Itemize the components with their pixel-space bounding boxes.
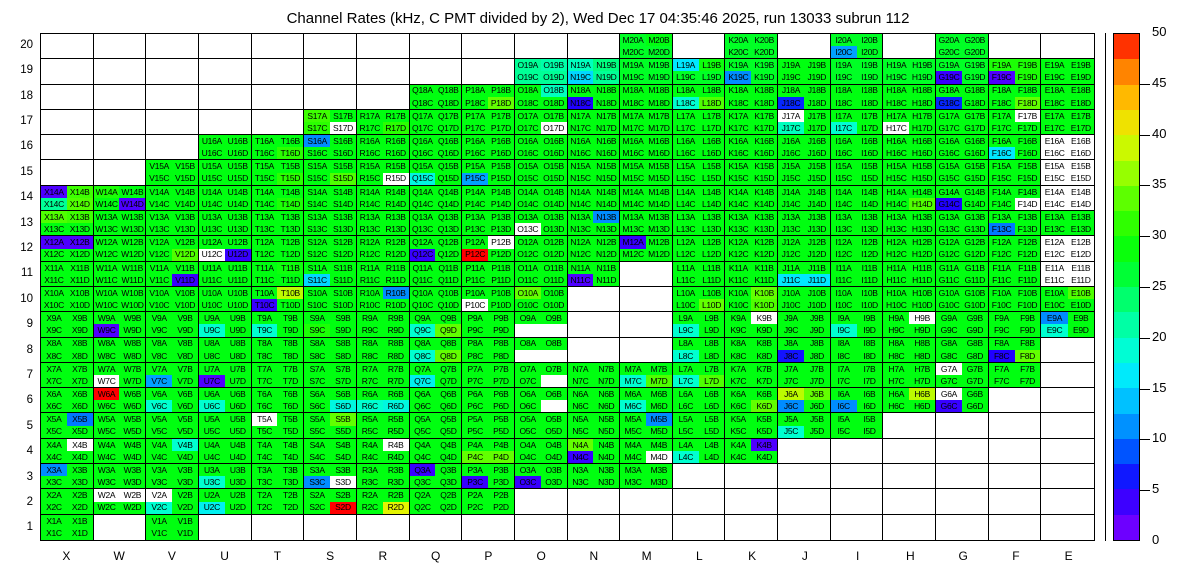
channel-cell: T10C [252,299,278,311]
module-cell: W5AW5BW5CW5D [94,413,147,438]
channel-cell: F9B [1015,312,1041,324]
module-cell: P9AP9BP9CP9D [462,312,515,337]
module-cell: T7AT7BT7CT7D [252,363,305,388]
module-cell: U7AU7BU7CU7D [199,363,252,388]
module-cell [146,135,199,160]
module-cell: G10AG10BG10CG10D [936,287,989,312]
channel-cell: K10D [751,299,777,311]
channel-cell: F15C [989,173,1015,185]
channel-cell: G17C [936,122,962,134]
channel-cell: E12A [1041,236,1067,248]
module-cell: O3AO3BO3CO3D [515,464,568,489]
channel-cell: L10C [673,299,699,311]
channel-cell: O9A [515,312,541,324]
module-cell: J9AJ9BJ9CJ9D [778,312,831,337]
channel-cell: S16A [304,135,330,147]
channel-cell-empty [673,46,699,58]
module-cell: E13AE13BE13CE13D [1041,211,1094,236]
channel-cell-empty [909,464,935,476]
channel-cell: P7D [488,375,514,387]
module-cell: V5AV5BV5CV5D [146,413,199,438]
channel-cell: O18C [515,97,541,109]
module-cell: L11AL11BL11CL11D [673,262,726,287]
module-cell: X14AX14BX14CX14D [41,186,94,211]
module-cell: U10AU10BU10CU10D [199,287,252,312]
channel-cell-empty [488,59,514,71]
channel-cell: O17D [541,122,567,134]
module-cell: O14AO14BO14CO14D [515,186,568,211]
x-axis-tick-label: S [304,549,357,563]
module-cell [883,489,936,514]
channel-cell: M3B [646,464,672,476]
channel-cell-empty [1068,439,1094,451]
module-cell: P3AP3BP3CP3D [462,464,515,489]
channel-cell-empty [989,464,1015,476]
channel-cell-empty [751,527,777,540]
channel-cell: G10B [962,287,988,299]
channel-cell: R14D [383,198,409,210]
channel-cell: F10C [989,299,1015,311]
channel-cell: X10A [41,287,67,299]
channel-cell: I11C [831,274,857,286]
module-cell [199,59,252,84]
channel-cell-empty [857,476,883,488]
channel-cell: Q10C [410,299,436,311]
channel-cell: K14A [725,186,751,198]
channel-cell: J11B [804,262,830,274]
channel-cell: V13D [172,223,198,235]
channel-cell-empty [330,85,356,97]
channel-cell: U14C [199,198,225,210]
channel-cell-empty [330,46,356,58]
channel-cell: P13C [462,223,488,235]
channel-cell: U5D [225,426,251,438]
channel-cell-empty [778,489,804,501]
module-cell: N4AN4BN4CN4D [568,439,621,464]
channel-cell: P8D [488,350,514,362]
channel-cell-empty [883,439,909,451]
module-cell: J13AJ13BJ13CJ13D [778,211,831,236]
channel-cell: K12C [725,249,751,261]
module-cell: K8AK8BK8CK8D [725,338,778,363]
channel-cell: L15D [699,173,725,185]
module-cell [989,464,1042,489]
channel-cell: N15A [568,160,594,172]
channel-cell: W9B [119,312,145,324]
channel-cell: R12C [357,249,383,261]
channel-cell: R15C [357,173,383,185]
channel-cell-empty [593,502,619,514]
module-cell: Q13AQ13BQ13CQ13D [410,211,463,236]
channel-cell-empty [252,85,278,97]
channel-cell: J5D [804,426,830,438]
module-cell: I15AI15BI15CI15D [831,160,884,185]
channel-cell-empty [515,527,541,540]
colorbar-segment [1114,236,1139,261]
channel-cell: I18D [857,97,883,109]
channel-cell: G15B [962,160,988,172]
module-cell: I19AI19BI19CI19D [831,59,884,84]
channel-cell: M18D [646,97,672,109]
channel-cell: S14A [304,186,330,198]
channel-cell: W2A [94,489,120,501]
channel-cell: P16A [462,135,488,147]
module-cell: V7AV7BV7CV7D [146,363,199,388]
channel-cell: O15A [515,160,541,172]
channel-cell: O14A [515,186,541,198]
channel-cell-empty [330,71,356,83]
channel-cell: O7C [515,375,541,387]
channel-cell: J5B [804,413,830,425]
channel-cell: Q5C [410,426,436,438]
channel-cell: J9D [804,324,830,336]
channel-cell: M12B [646,236,672,248]
channel-cell: G7B [962,363,988,375]
channel-cell: T16C [252,147,278,159]
module-cell: F16AF16BF16CF16D [989,135,1042,160]
channel-cell: X2D [67,502,93,514]
channel-cell: Q18C [410,97,436,109]
channel-cell-empty [488,71,514,83]
channel-cell: T8A [252,338,278,350]
channel-cell: V11C [146,274,172,286]
channel-cell-empty [357,34,383,46]
channel-cell: M5D [646,426,672,438]
channel-cell: L12D [699,249,725,261]
channel-cell: E10B [1068,287,1094,299]
channel-cell: W7B [119,363,145,375]
channel-cell-empty [41,85,67,97]
channel-cell: X7C [41,375,67,387]
channel-cell: E13D [1068,223,1094,235]
module-cell [620,287,673,312]
channel-cell: L7D [699,375,725,387]
channel-cell: N14B [593,186,619,198]
channel-cell: S13D [330,223,356,235]
channel-cell: F13B [1015,211,1041,223]
channel-cell-empty [119,46,145,58]
channel-cell: Q13B [435,211,461,223]
channel-cell-empty [252,515,278,528]
module-cell: G8AG8BG8CG8D [936,338,989,363]
module-cell: X6AX6BX6CX6D [41,388,94,413]
channel-cell: P9C [462,324,488,336]
channel-cell: L9D [699,324,725,336]
channel-cell: N12C [568,249,594,261]
channel-cell: S11B [330,262,356,274]
channel-cell: S3B [330,464,356,476]
channel-cell: G9D [962,324,988,336]
channel-cell: I15C [831,173,857,185]
channel-cell: X14B [67,186,93,198]
channel-cell: V8A [146,338,172,350]
colorbar-segment [1114,439,1139,464]
channel-cell: G14C [936,198,962,210]
channel-cell: M5C [620,426,646,438]
module-cell: K7AK7BK7CK7D [725,363,778,388]
channel-cell: R7C [357,375,383,387]
channel-cell: S12B [330,236,356,248]
channel-cell-empty [989,426,1015,438]
module-cell [1041,515,1094,540]
channel-cell: L18B [699,85,725,97]
channel-cell: P9A [462,312,488,324]
module-cell [778,34,831,59]
module-cell: T14AT14BT14CT14D [252,186,305,211]
channel-cell: H16A [883,135,909,147]
channel-cell: R17B [383,110,409,122]
channel-cell-empty [383,34,409,46]
channel-cell: T9A [252,312,278,324]
module-cell [831,489,884,514]
channel-cell: O12D [541,249,567,261]
channel-cell: E16A [1041,135,1067,147]
channel-cell: L12B [699,236,725,248]
channel-cell: J13A [778,211,804,223]
y-axis-tick-label: 14 [0,191,33,203]
channel-cell: E19C [1041,71,1067,83]
module-cell: G9AG9BG9CG9D [936,312,989,337]
channel-cell-empty [67,173,93,185]
channel-cell: H17C [883,122,909,134]
channel-cell: T5C [252,426,278,438]
channel-cell-empty [989,34,1015,46]
module-cell: E18AE18BE18CE18D [1041,85,1094,110]
channel-cell: J5C [778,426,804,438]
channel-cell-empty [252,34,278,46]
channel-cell: W14C [94,198,120,210]
channel-cell-empty [962,451,988,463]
channel-cell: Q14D [435,198,461,210]
channel-cell: J6A [778,388,804,400]
channel-cell: L11D [699,274,725,286]
module-cell [1041,388,1094,413]
channel-cell: J18D [804,97,830,109]
channel-cell: W14A [94,186,120,198]
channel-cell: M15A [620,160,646,172]
channel-cell-empty [172,110,198,122]
module-cell: P4AP4BP4CP4D [462,439,515,464]
module-cell: P18AP18BP18CP18D [462,85,515,110]
channel-cell: N17B [593,110,619,122]
channel-cell: G14D [962,198,988,210]
module-cell [94,160,147,185]
channel-cell: N7B [593,363,619,375]
channel-cell: N15B [593,160,619,172]
channel-cell-empty [541,350,567,362]
channel-cell-empty [1041,400,1067,412]
channel-cell: M6A [620,388,646,400]
channel-cell: T8D [277,350,303,362]
channel-cell: M20B [646,34,672,46]
channel-cell: M17A [620,110,646,122]
channel-cell-empty [146,34,172,46]
channel-cell: U15B [225,160,251,172]
channel-cell-empty [462,527,488,540]
channel-cell: T14D [277,198,303,210]
channel-cell: Q2C [410,502,436,514]
channel-cell-empty [1068,363,1094,375]
channel-cell: J5A [778,413,804,425]
channel-cell: P12D [488,249,514,261]
channel-cell-empty [410,46,436,58]
channel-cell: K8B [751,338,777,350]
channel-cell: V13C [146,223,172,235]
channel-cell: R15B [383,160,409,172]
channel-cell: T13A [252,211,278,223]
channel-cell: H13C [883,223,909,235]
channel-cell: N19D [593,71,619,83]
channel-cell: I19D [857,71,883,83]
channel-cell: J6D [804,400,830,412]
module-cell: V9AV9BV9CV9D [146,312,199,337]
channel-cell-empty [620,299,646,311]
channel-cell: G20D [962,46,988,58]
channel-cell-empty [1041,350,1067,362]
channel-cell: E15B [1068,160,1094,172]
channel-cell: L7B [699,363,725,375]
channel-cell: S12A [304,236,330,248]
channel-cell: U7D [225,375,251,387]
channel-cell: T12D [277,249,303,261]
module-cell [883,515,936,540]
channel-cell: N12A [568,236,594,248]
channel-cell: N13D [593,223,619,235]
channel-cell-empty [119,71,145,83]
channel-cell: G9A [936,312,962,324]
module-cell: U3AU3BU3CU3D [199,464,252,489]
module-cell: R2AR2BR2CR2D [357,489,410,514]
channel-cell: V2B [172,489,198,501]
channel-cell: K8A [725,338,751,350]
channel-cell: S11D [330,274,356,286]
channel-cell: K16A [725,135,751,147]
channel-cell: Q10B [435,287,461,299]
module-cell: V12AV12BV12CV12D [146,236,199,261]
channel-cell: O17C [515,122,541,134]
channel-cell: U9D [225,324,251,336]
channel-cell: W5C [94,426,120,438]
module-cell: Q14AQ14BQ14CQ14D [410,186,463,211]
channel-cell: L9C [673,324,699,336]
channel-cell: G12B [962,236,988,248]
channel-cell: F14C [989,198,1015,210]
module-cell: H13AH13BH13CH13D [883,211,936,236]
channel-cell: E15C [1041,173,1067,185]
module-cell: E10AE10BE10CE10D [1041,287,1094,312]
module-cell: S7AS7BS7CS7D [304,363,357,388]
channel-cell-empty [831,439,857,451]
channel-cell: S10A [304,287,330,299]
module-cell [568,489,621,514]
channel-cell-empty [673,464,699,476]
channel-cell-empty [225,71,251,83]
channel-cell: H7A [883,363,909,375]
channel-cell: U7B [225,363,251,375]
channel-cell-empty [646,287,672,299]
channel-cell-empty [593,350,619,362]
module-cell [989,515,1042,540]
channel-cell: I9C [831,324,857,336]
channel-cell-empty [119,527,145,540]
channel-cell: M18A [620,85,646,97]
channel-cell-empty [989,413,1015,425]
channel-cell: W4B [119,439,145,451]
channel-cell: P17C [462,122,488,134]
colorbar-segment [1114,312,1139,337]
channel-cell: U4C [199,451,225,463]
colorbar-tick [1140,135,1150,136]
channel-cell: R12A [357,236,383,248]
channel-cell: P2D [488,502,514,514]
channel-cell: V5A [146,413,172,425]
channel-cell-empty [225,34,251,46]
channel-cell: L17B [699,110,725,122]
channel-cell-empty [119,122,145,134]
module-cell: X9AX9BX9CX9D [41,312,94,337]
channel-cell-empty [1068,527,1094,540]
module-cell: Q15AQ15BQ15CQ15D [410,160,463,185]
channel-cell: R13D [383,223,409,235]
channel-cell-empty [410,527,436,540]
channel-cell: X10C [41,299,67,311]
channel-cell: E17C [1041,122,1067,134]
module-cell: T4AT4BT4CT4D [252,439,305,464]
channel-cell: E19A [1041,59,1067,71]
module-cell [515,515,568,540]
channel-cell-empty [541,400,567,412]
colorbar-tick-label: 40 [1152,126,1166,141]
module-cell: L6AL6BL6CL6D [673,388,726,413]
module-cell: O18AO18BO18CO18D [515,85,568,110]
channel-cell: M12A [620,236,646,248]
channel-cell-empty [568,34,594,46]
colorbar-tick-label: 20 [1152,329,1166,344]
module-cell: W11AW11BW11CW11D [94,262,147,287]
x-axis-tick-label: G [937,549,990,563]
channel-cell: G17D [962,122,988,134]
channel-cell-empty [804,489,830,501]
channel-cell-empty [515,46,541,58]
channel-cell-empty [831,489,857,501]
module-cell [936,413,989,438]
channel-cell-empty [568,46,594,58]
channel-cell: O6A [515,388,541,400]
module-cell: O19AO19BO19CO19D [515,59,568,84]
module-cell: P8AP8BP8CP8D [462,338,515,363]
channel-cell: O19D [541,71,567,83]
channel-cell: L5B [699,413,725,425]
channel-cell: M4A [620,439,646,451]
module-cell [883,34,936,59]
channel-cell: L19D [699,71,725,83]
channel-cell: O19B [541,59,567,71]
channel-cell-empty [962,439,988,451]
module-cell [620,489,673,514]
channel-cell: R12D [383,249,409,261]
y-axis-tick-label: 9 [0,318,33,330]
channel-cell: P18C [462,97,488,109]
module-cell: L7AL7BL7CL7D [673,363,726,388]
colorbar-segment [1114,211,1139,236]
channel-cell-empty [146,46,172,58]
channel-cell: S4C [304,451,330,463]
channel-cell-empty [304,85,330,97]
channel-cell: V6C [146,400,172,412]
channel-cell-empty [831,451,857,463]
channel-cell-empty [199,59,225,71]
channel-cell-empty [172,71,198,83]
